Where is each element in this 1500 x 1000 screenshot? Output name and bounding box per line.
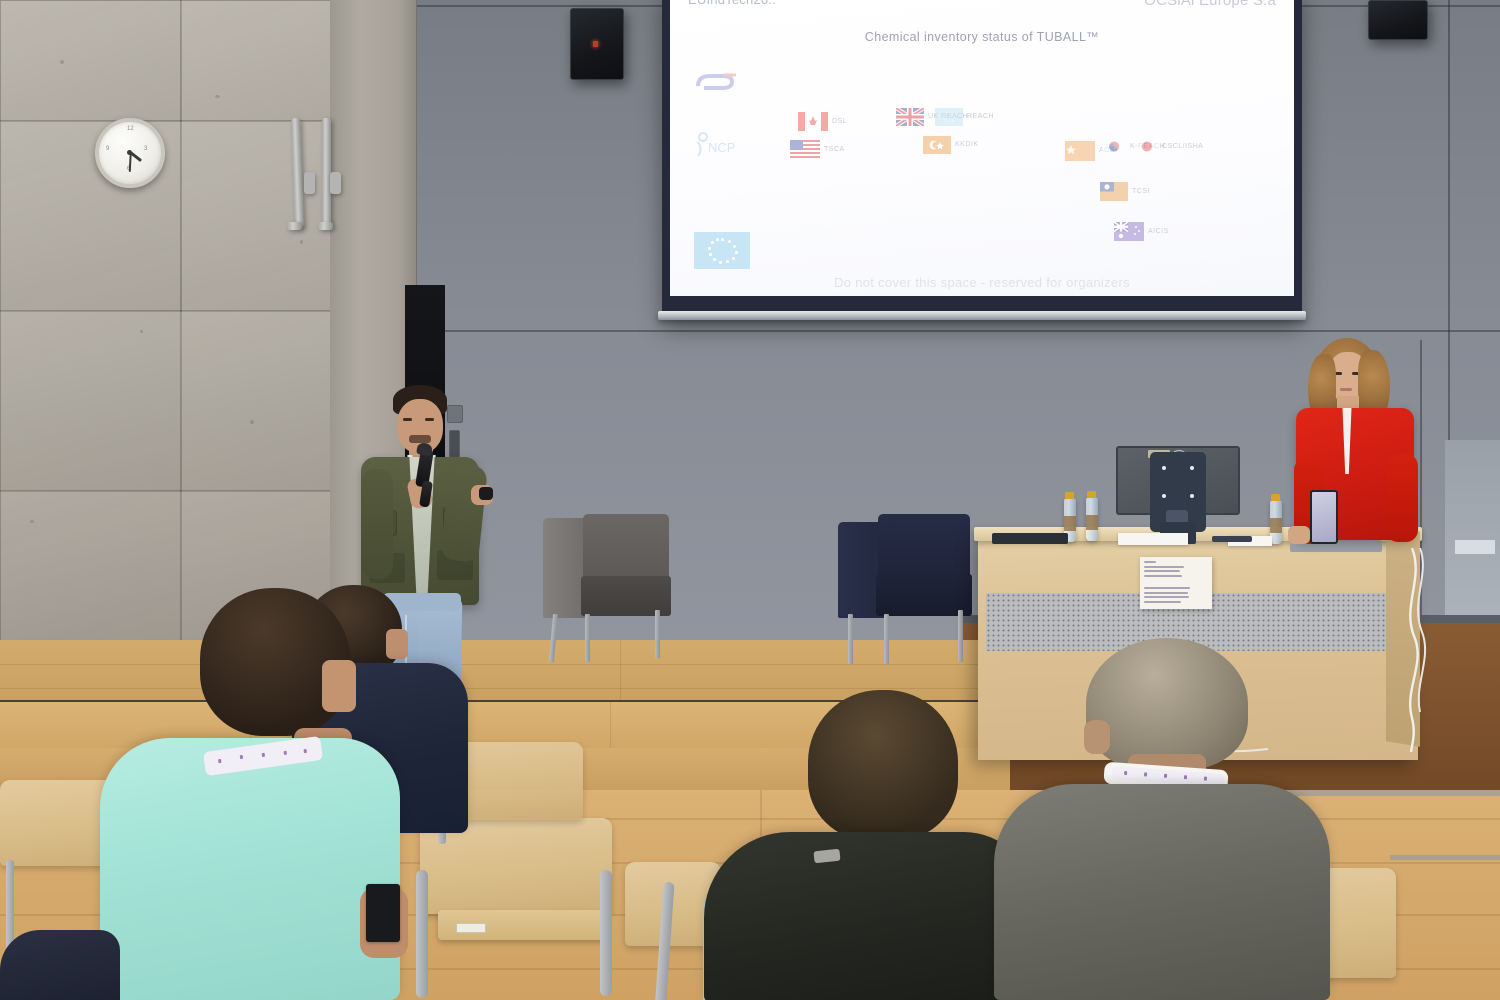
flag-china-icon: [1065, 141, 1095, 161]
floor-metal-strip-2: [1390, 855, 1500, 860]
flag-australia-icon: [1114, 222, 1144, 241]
flag-label-japan: CSCL/ISHA: [1162, 143, 1203, 150]
flag-turkey-icon: [923, 136, 951, 154]
wall-vent: [1455, 540, 1495, 554]
audience-dark-body: [704, 832, 1034, 1000]
wall-rail-right: [322, 118, 331, 226]
slide-footer: Do not cover this space - reserved for o…: [670, 275, 1294, 290]
screen-bottom-bar: [658, 311, 1306, 320]
flag-canada-icon: [798, 112, 828, 131]
audience-mint-ear: [322, 660, 356, 712]
audience-member-edge-left[interactable]: [0, 930, 120, 1000]
flag-usa-icon: [790, 140, 820, 159]
rail-bracket-right: [330, 172, 341, 194]
wifi-info-sign: [1140, 557, 1212, 609]
flag-label-canada: DSL: [832, 118, 847, 125]
flag-eu-icon: [935, 108, 963, 126]
slide-header: EUIndTech20.. OCSiAl Europe S.à: [670, 0, 1294, 9]
flag-label-usa: TSCA: [824, 146, 845, 153]
flag-label-turkey: KKDIK: [955, 141, 979, 148]
bottle-label-2: [1086, 515, 1098, 530]
eu-blue-mark-icon: [694, 70, 756, 104]
laptop-closed[interactable]: [992, 533, 1068, 544]
monitor-cable: [1212, 536, 1252, 542]
bottle-cap-3: [1271, 494, 1280, 501]
slide-header-right: OCSiAl Europe S.à: [1144, 0, 1276, 9]
moderator[interactable]: [1282, 338, 1427, 553]
wall-speaker-right: [1368, 0, 1428, 40]
presentation-clicker[interactable]: [479, 487, 493, 500]
rail-bracket-left: [304, 172, 315, 194]
moderator-arm-right: [1386, 454, 1418, 542]
rail-foot-left: [287, 222, 302, 230]
bottle-cap-2: [1087, 491, 1096, 498]
hanging-cables: [1398, 548, 1438, 753]
bottle-label-3: [1270, 518, 1282, 533]
eu-flag-icon: [694, 232, 750, 269]
moderator-tablet[interactable]: [1310, 490, 1338, 544]
slide-content: EUIndTech20.. OCSiAl Europe S.à Chemical…: [670, 0, 1294, 296]
presenter-eye-right: [425, 418, 434, 421]
svg-text:NCP: NCP: [708, 140, 735, 155]
flag-label-eu: REACH: [967, 113, 994, 120]
slide-title: Chemical inventory status of TUBALL™: [670, 30, 1294, 44]
audience-dark-head: [808, 690, 958, 840]
ncp-logo-icon: NCP: [694, 130, 756, 164]
moderator-mouth: [1340, 388, 1352, 391]
audience-grey-ear: [1084, 720, 1110, 754]
audience-grey-head: [1086, 638, 1248, 770]
wall-speaker-left: [570, 8, 624, 80]
screenshot-root: 12 3 6 9 EUIndTech20.. OCSiAl Europe S.à…: [0, 0, 1500, 1000]
flag-label-taiwan: TCSI: [1132, 188, 1150, 195]
presenter-arm-left: [361, 469, 393, 579]
bottle-cap-1: [1065, 492, 1074, 499]
audience-mint-phone[interactable]: [366, 884, 400, 942]
slide-logo-column: NCP: [694, 70, 756, 190]
slide-header-left: EUIndTech20..: [688, 0, 776, 9]
audience-grey-body: [994, 784, 1330, 1000]
flag-korea-icon: [1102, 138, 1126, 155]
flag-uk-icon: [896, 108, 924, 126]
armchair-navy[interactable]: [838, 518, 974, 666]
audience-member-grey[interactable]: [1000, 638, 1350, 1000]
projection-screen: EUIndTech20.. OCSiAl Europe S.à Chemical…: [662, 0, 1302, 320]
rail-foot-right: [318, 222, 333, 230]
presenter-eye-left: [403, 418, 412, 421]
moderator-hand-left: [1288, 526, 1310, 544]
audience-member-mint[interactable]: [78, 588, 438, 1000]
audience-mint-shirt: [100, 738, 400, 1000]
monitor-vesa-mount: [1150, 452, 1206, 532]
flag-taiwan-icon: [1100, 182, 1128, 201]
flag-label-australia: AICIS: [1148, 228, 1169, 235]
wall-clock: 12 3 6 9: [95, 118, 165, 188]
wall-seam-horizontal: [400, 330, 1500, 332]
flag-japan-icon: [1136, 138, 1158, 155]
presenter-beard: [409, 435, 431, 443]
papers-on-desk[interactable]: [1118, 533, 1188, 545]
armchair-grey[interactable]: [543, 518, 673, 663]
bottle-label-1: [1064, 516, 1076, 531]
